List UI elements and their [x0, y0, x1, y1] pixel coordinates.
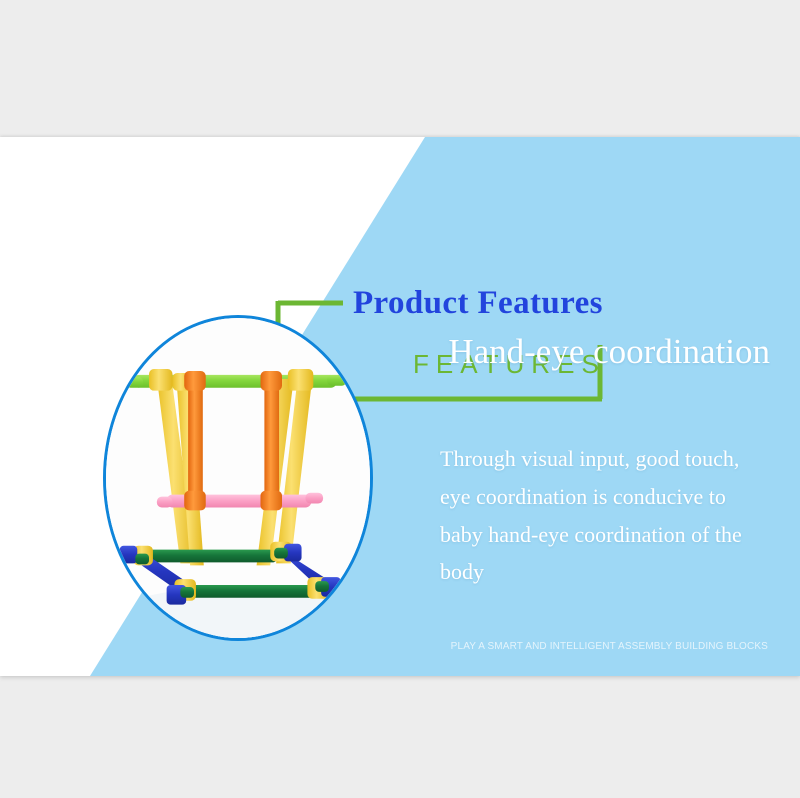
feature-body-text: Through visual input, good touch, eye co…	[440, 440, 770, 591]
page-root: Product Features FEATURES	[0, 0, 800, 798]
product-photo-circle[interactable]	[103, 315, 373, 641]
footer-caption: PLAY A SMART AND INTELLIGENT ASSEMBLY BU…	[451, 641, 768, 652]
main-title: Product Features	[353, 285, 603, 322]
feature-banner-card: Product Features FEATURES	[0, 137, 800, 676]
feature-headline: Hand-eye coordination	[440, 333, 770, 371]
product-photo	[106, 318, 370, 638]
